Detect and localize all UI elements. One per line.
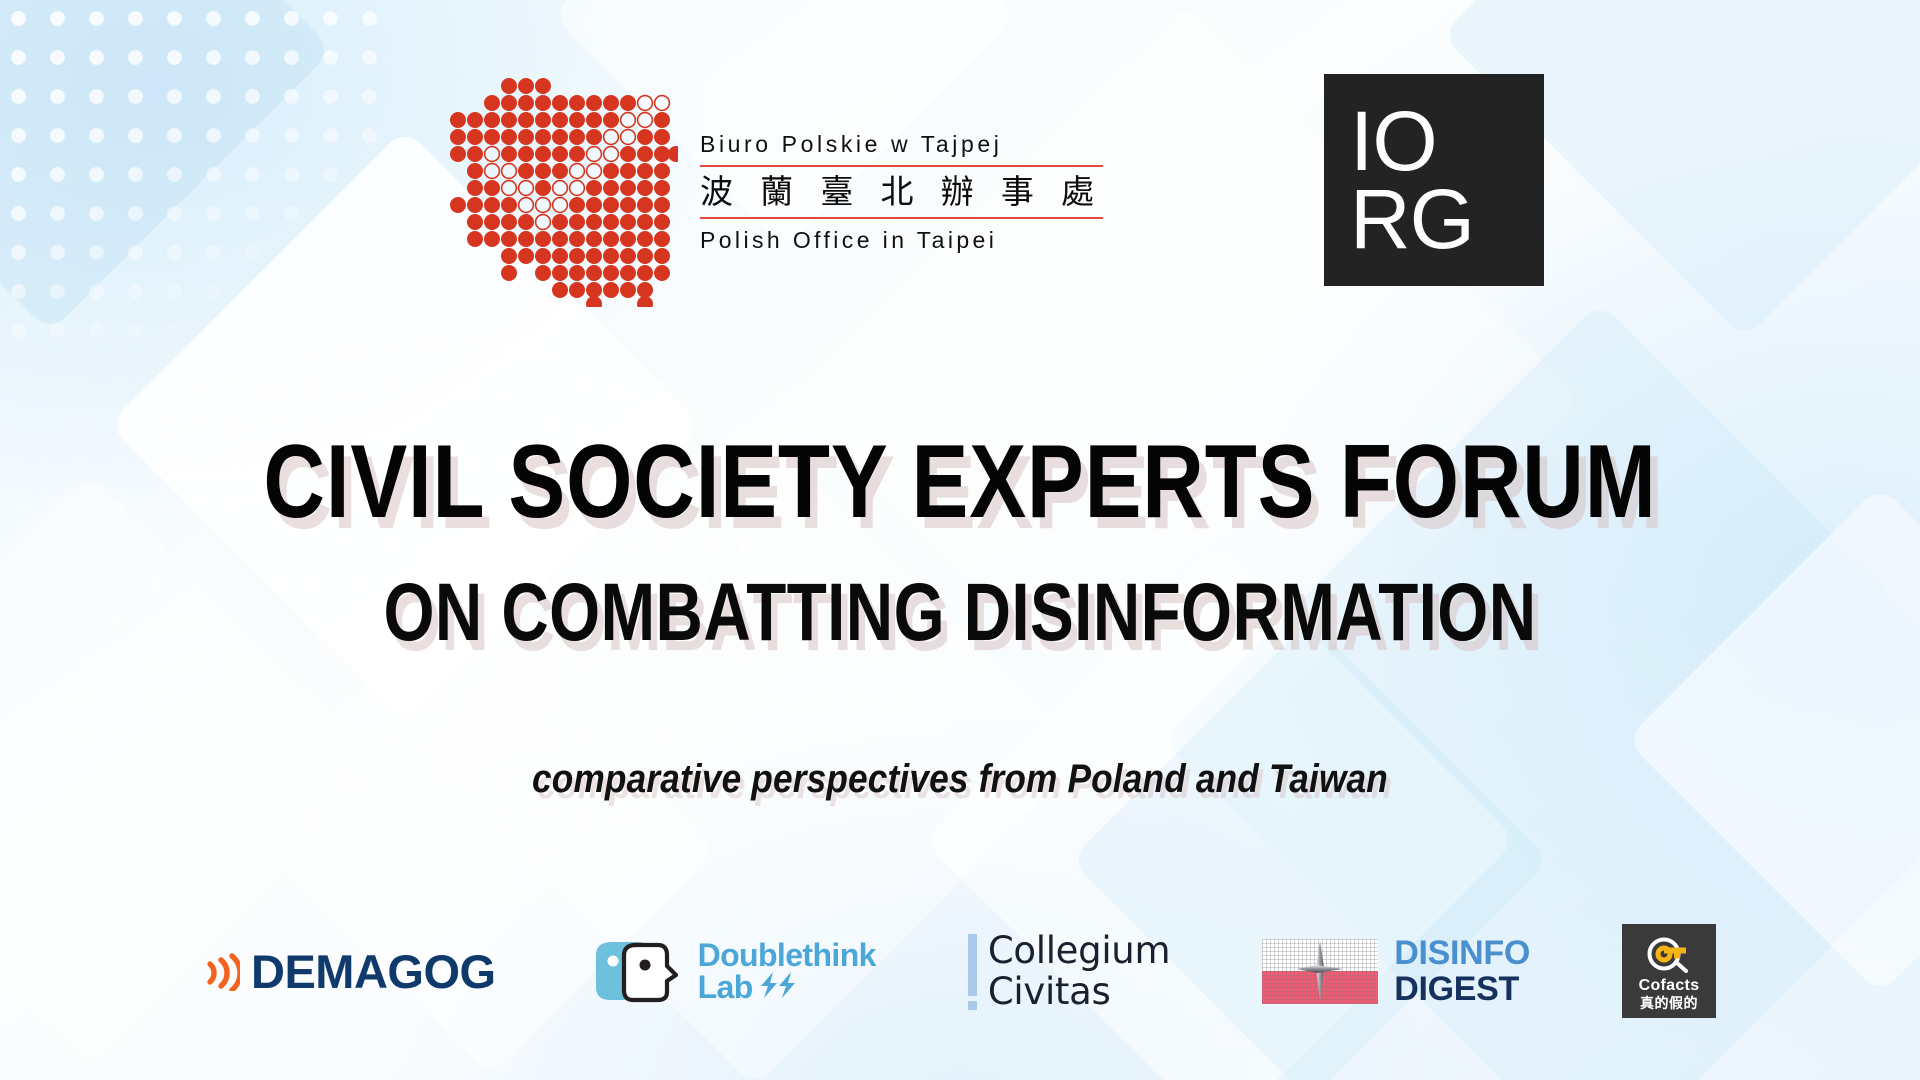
disinfo-line-1: DISINFO: [1394, 936, 1530, 970]
divider-rule-bottom: [700, 217, 1103, 219]
disinfo-line-2: DIGEST: [1394, 972, 1530, 1006]
magnifier-key-icon: [1646, 935, 1692, 975]
partner-logo-strip: DEMAGOG Doublethink Lab: [0, 924, 1920, 1018]
two-head-profiles-icon: [588, 937, 686, 1005]
lightning-bolt-icon: [758, 971, 798, 1004]
cofacts-line-en: Cofacts: [1639, 977, 1700, 995]
title-block: CIVIL SOCIETY EXPERTS FORUM ON COMBATTIN…: [0, 430, 1920, 654]
polish-office-line-zh: 波 蘭 臺 北 辦 事 處: [700, 173, 1103, 211]
demagog-wordmark: DEMAGOG: [251, 944, 496, 999]
disinfo-digest-wordmark: DISINFO DIGEST: [1394, 936, 1530, 1006]
iorg-line-2: RG: [1350, 180, 1544, 258]
page-tagline: comparative perspectives from Poland and…: [115, 757, 1805, 802]
poland-dot-matrix-map-icon: [440, 72, 678, 307]
collegium-civitas-logo: Collegium Civitas: [968, 930, 1170, 1013]
page-subtitle: ON COMBATTING DISINFORMATION: [192, 572, 1728, 654]
collegium-line-2: Civitas: [988, 971, 1170, 1012]
disinfo-digest-logo: DISINFO DIGEST: [1262, 936, 1530, 1006]
collegium-civitas-wordmark: Collegium Civitas: [988, 930, 1170, 1013]
doublethink-lab-logo: Doublethink Lab: [588, 937, 876, 1005]
polish-office-line-en: Polish Office in Taipei: [700, 227, 1103, 254]
doublethink-line-1: Doublethink: [698, 939, 876, 971]
page-title: CIVIL SOCIETY EXPERTS FORUM: [173, 430, 1747, 534]
signal-waves-icon: [204, 951, 240, 991]
collegium-line-1: Collegium: [988, 930, 1170, 971]
iorg-logo: IO RG: [1324, 74, 1544, 286]
doublethink-lab-wordmark: Doublethink Lab: [698, 939, 876, 1004]
vertical-bar-icon: [968, 930, 977, 1013]
iorg-line-1: IO: [1350, 102, 1544, 180]
header-logo-row: Biuro Polskie w Tajpej 波 蘭 臺 北 辦 事 處 Pol…: [0, 72, 1920, 287]
doublethink-line-2: Lab: [698, 971, 753, 1003]
demagog-logo: DEMAGOG: [204, 944, 496, 999]
polish-office-wordmark: Biuro Polskie w Tajpej 波 蘭 臺 北 辦 事 處 Pol…: [700, 125, 1103, 254]
polish-office-line-pl: Biuro Polskie w Tajpej: [700, 131, 1103, 158]
cofacts-line-zh: 真的假的: [1640, 996, 1698, 1011]
cofacts-logo: Cofacts 真的假的: [1622, 924, 1716, 1018]
polish-office-logo: Biuro Polskie w Tajpej 波 蘭 臺 北 辦 事 處 Pol…: [440, 72, 1103, 307]
halftone-polish-flag-compass-icon: [1262, 939, 1378, 1004]
divider-rule-top: [700, 165, 1103, 167]
